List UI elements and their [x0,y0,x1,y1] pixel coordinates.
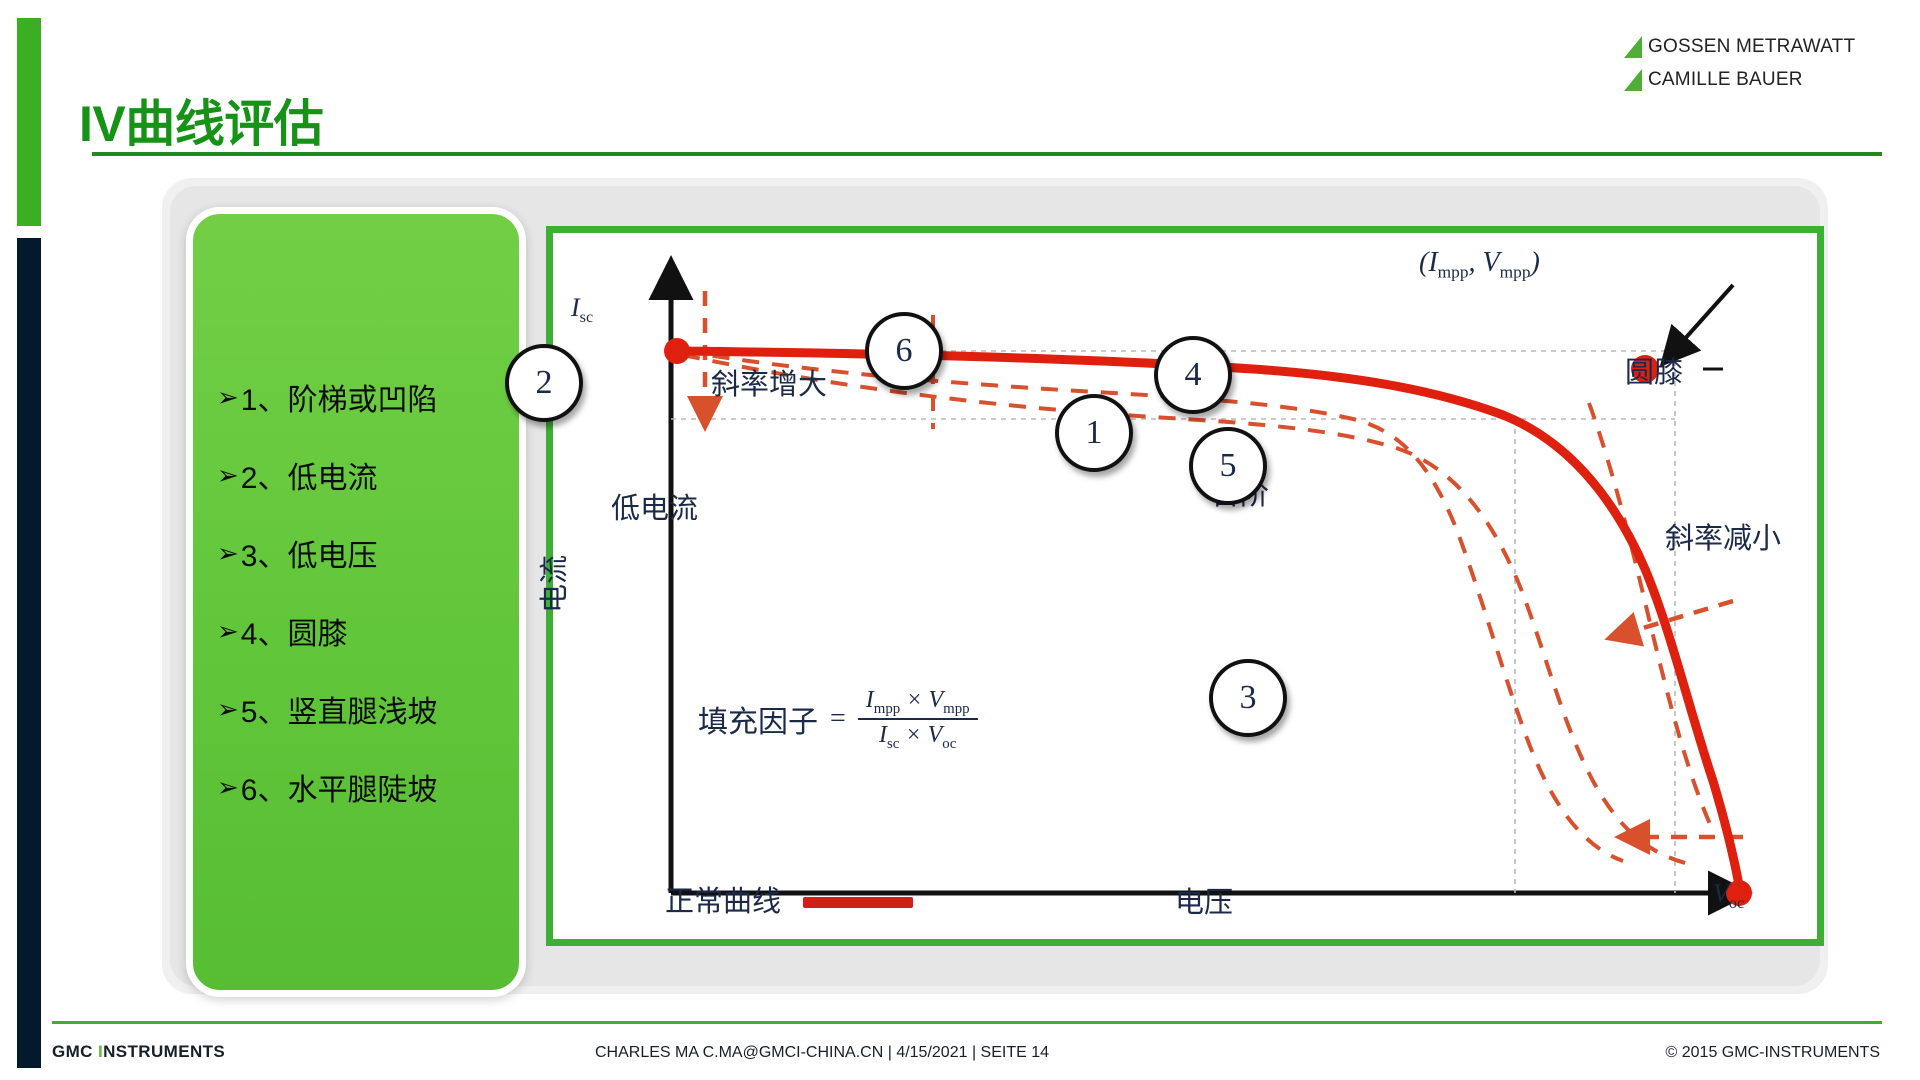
arrow-bullet-icon: ➢ [217,540,239,566]
footer-logo-rest: NSTRUMENTS [103,1042,225,1061]
list-item: ➢ 3、低电压 [217,531,519,575]
fault-curve-c [1589,403,1713,831]
list-item-label: 6、水平腿陡坡 [241,765,438,809]
voc-axis-label: Voc [1713,879,1744,913]
mpp-annotation: (Impp, Vmpp) [1419,247,1540,283]
arrow-bullet-icon: ➢ [217,618,239,644]
brand-name-gossen: GOSSEN METRAWATT [1648,36,1855,58]
brand-logo: GOSSEN METRAWATT CAMILLE BAUER [1622,30,1882,96]
list-item: ➢ 1、阶梯或凹陷 [217,375,519,419]
isc-marker [664,338,690,364]
brand-row-gossen: GOSSEN METRAWATT [1622,30,1882,63]
bullet-card: ➢ 1、阶梯或凹陷 ➢ 2、低电流 ➢ 3、低电压 ➢ 4、圆膝 ➢ 5、竖直腿… [186,207,526,997]
callout-bubble-6[interactable]: 6 [865,312,943,390]
list-item-label: 3、低电压 [241,531,378,575]
footer-logo: GMC INSTRUMENTS [52,1042,225,1062]
brand-row-camille: CAMILLE BAUER [1622,63,1882,96]
footer-copyright: © 2015 GMC-INSTRUMENTS [1666,1044,1880,1062]
formula-label: 填充因子 [698,697,818,741]
legend-swatch [803,897,913,908]
list-item: ➢ 2、低电流 [217,453,519,497]
formula-equals: = [830,703,846,735]
slide-root: IV曲线评估 GOSSEN METRAWATT CAMILLE BAUER ➢ … [0,0,1920,1080]
formula-numerator: Impp × Vmpp [858,685,978,718]
formula-fraction: Impp × Vmpp Isc × Voc [858,685,978,754]
callout-bubble-2[interactable]: 2 [505,344,583,422]
slope-increase-annotation: 斜率增大 [711,361,827,403]
fault-curve-a [683,351,1623,861]
iv-curve-chart: Isc Voc (Impp, Vmpp) 圆膝 斜率增大 斜率减小 台阶 低电流… [546,226,1824,946]
edge-accent-green [17,18,41,226]
list-item-label: 1、阶梯或凹陷 [241,375,438,419]
list-item-label: 2、低电流 [241,453,378,497]
slope-down-arrow [1613,601,1733,637]
formula-denominator: Isc × Voc [871,720,964,753]
callout-bubble-4[interactable]: 4 [1154,336,1232,414]
arrow-bullet-icon: ➢ [217,774,239,800]
round-knee-annotation: 圆膝 [1625,349,1683,391]
y-axis-label: 电流 [531,555,573,613]
footer-divider [52,1021,1882,1024]
brand-name-camille: CAMILLE BAUER [1648,69,1803,91]
footer-logo-gmc: GMC [52,1042,98,1061]
brand-triangle-icon [1622,34,1644,59]
edge-accent-navy [17,238,41,1068]
title-underline [92,152,1882,156]
page-title: IV曲线评估 [79,84,323,156]
fill-factor-formula: 填充因子 = Impp × Vmpp Isc × Voc [698,685,978,754]
legend-label: 正常曲线 [665,878,781,920]
callout-bubble-1[interactable]: 1 [1055,394,1133,472]
callout-bubble-5[interactable]: 5 [1189,427,1267,505]
slope-decrease-annotation: 斜率减小 [1665,515,1781,557]
arrow-bullet-icon: ➢ [217,696,239,722]
callout-bubble-3[interactable]: 3 [1209,659,1287,737]
footer-meta: CHARLES MA C.MA@GMCI-CHINA.CN | 4/15/202… [595,1044,1049,1062]
list-item: ➢ 6、水平腿陡坡 [217,765,519,809]
arrow-bullet-icon: ➢ [217,384,239,410]
x-axis-label: 电压 [1175,879,1233,921]
low-current-annotation: 低电流 [611,485,698,527]
list-item: ➢ 5、竖直腿浅坡 [217,687,519,731]
brand-triangle-icon [1622,67,1644,92]
list-item-label: 4、圆膝 [241,609,348,653]
arrow-bullet-icon: ➢ [217,462,239,488]
list-item: ➢ 4、圆膝 [217,609,519,653]
isc-axis-label: Isc [571,293,593,327]
list-item-label: 5、竖直腿浅坡 [241,687,438,731]
